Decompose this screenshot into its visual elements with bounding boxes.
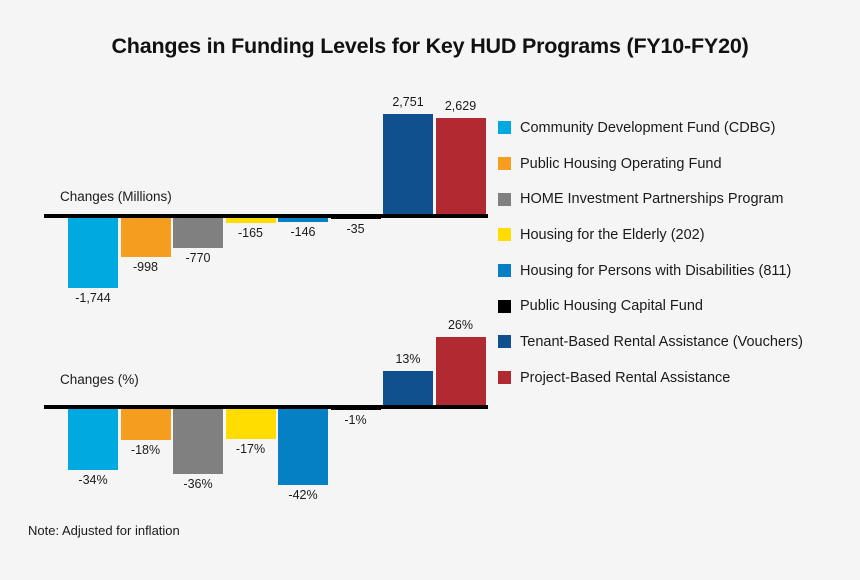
bar [436,337,486,405]
legend-item[interactable]: Housing for Persons with Disabilities (8… [498,253,848,289]
bar [121,407,171,440]
legend-item[interactable]: Community Development Fund (CDBG) [498,110,848,146]
bar [68,216,118,288]
legend-item[interactable]: Tenant-Based Rental Assistance (Vouchers… [498,324,848,360]
legend-label: HOME Investment Partnerships Program [520,191,784,207]
panel-millions-bars: -1,744-998-770-165-146-352,7512,629 [44,95,488,305]
legend-item[interactable]: Project-Based Rental Assistance [498,360,848,396]
legend-item[interactable]: Public Housing Operating Fund [498,146,848,182]
legend-swatch-icon [498,335,511,348]
bar [383,114,433,214]
legend-label: Tenant-Based Rental Assistance (Vouchers… [520,334,803,350]
chart-title: Changes in Funding Levels for Key HUD Pr… [0,34,860,59]
panel-percent-zero-axis [44,405,488,409]
legend-item[interactable]: HOME Investment Partnerships Program [498,181,848,217]
bar-value-label: 26% [422,318,500,332]
chart-legend: Community Development Fund (CDBG)Public … [498,110,848,396]
bar [68,407,118,470]
bar [436,118,486,214]
legend-swatch-icon [498,228,511,241]
legend-swatch-icon [498,300,511,313]
legend-label: Community Development Fund (CDBG) [520,120,775,136]
panel-millions-zero-axis [44,214,488,218]
panel-percent-bars: -34%-18%-36%-17%-42%-1%13%26% [44,310,488,510]
legend-label: Housing for the Elderly (202) [520,227,705,243]
chart-figure: Changes in Funding Levels for Key HUD Pr… [0,0,860,580]
bar [383,371,433,405]
panel-percent: Changes (%) -34%-18%-36%-17%-42%-1%13%26… [44,310,488,510]
bar-value-label: 2,629 [422,99,500,113]
legend-swatch-icon [498,193,511,206]
panel-millions: Changes (Millions) -1,744-998-770-165-14… [44,95,488,305]
legend-swatch-icon [498,264,511,277]
chart-note: Note: Adjusted for inflation [28,523,180,538]
bar [173,407,223,474]
bar [226,407,276,439]
legend-swatch-icon [498,157,511,170]
legend-item[interactable]: Housing for the Elderly (202) [498,217,848,253]
legend-label: Housing for Persons with Disabilities (8… [520,263,791,279]
legend-label: Public Housing Capital Fund [520,298,703,314]
legend-item[interactable]: Public Housing Capital Fund [498,288,848,324]
legend-label: Project-Based Rental Assistance [520,370,730,386]
legend-label: Public Housing Operating Fund [520,156,722,172]
legend-swatch-icon [498,371,511,384]
legend-swatch-icon [498,121,511,134]
